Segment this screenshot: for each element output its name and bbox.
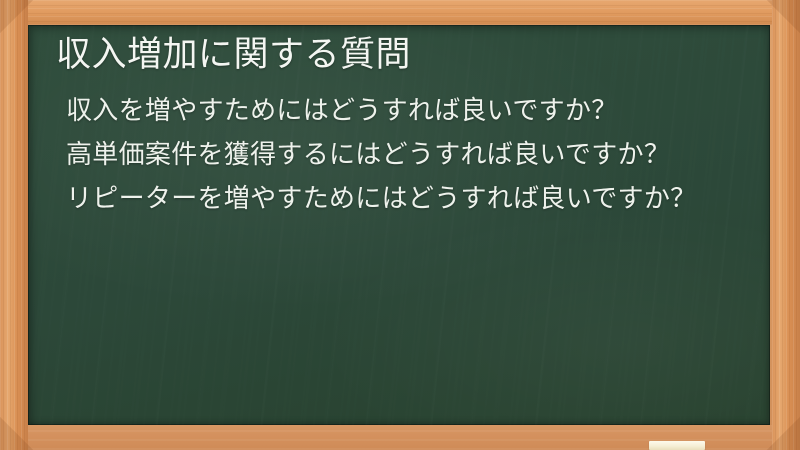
page-title: 収入増加に関する質問 xyxy=(34,34,740,77)
chalk-stick-icon xyxy=(649,441,705,450)
blackboard-slide: 収入増加に関する質問 収入を増やすためにはどうすれば良いですか？ 高単価案件を獲… xyxy=(0,0,800,450)
frame-stile-right xyxy=(772,0,800,450)
list-item: 収入を増やすためにはどうすれば良いですか？ xyxy=(60,93,740,130)
question-list: 収入を増やすためにはどうすれば良いですか？ 高単価案件を獲得するにはどうすれば良… xyxy=(34,93,740,218)
chalkboard-surface: 収入増加に関する質問 収入を増やすためにはどうすれば良いですか？ 高単価案件を獲… xyxy=(28,25,770,425)
frame-stile-left xyxy=(0,0,28,450)
board-content: 収入増加に関する質問 収入を増やすためにはどうすれば良いですか？ 高単価案件を獲… xyxy=(28,25,770,425)
list-item: 高単価案件を獲得するにはどうすれば良いですか？ xyxy=(60,137,740,174)
list-item: リピーターを増やすためにはどうすれば良いですか？ xyxy=(60,181,740,218)
frame-rail-top xyxy=(0,0,800,25)
